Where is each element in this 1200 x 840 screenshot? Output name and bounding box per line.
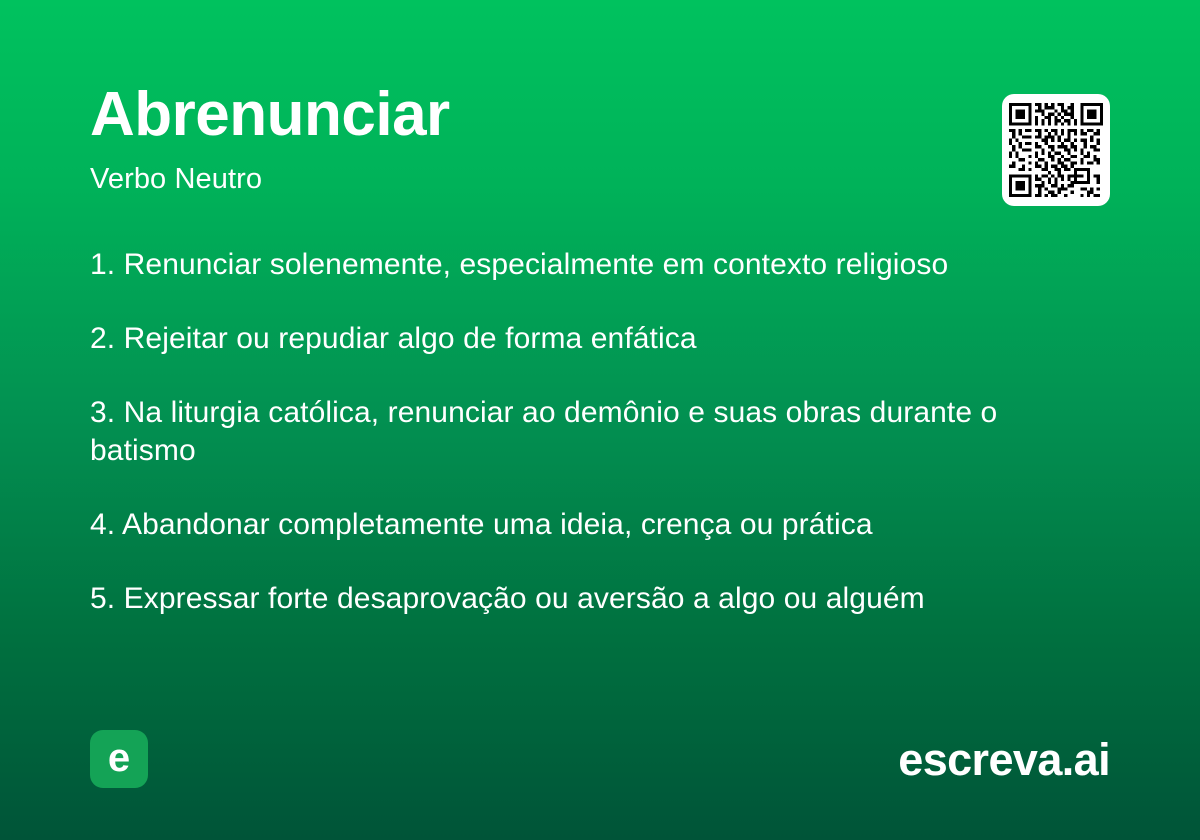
definition-item: 3. Na liturgia católica, renunciar ao de… [90, 394, 1100, 470]
card-header: Abrenunciar Verbo Neutro [90, 84, 1110, 206]
card-footer: e escreva.ai [90, 730, 1110, 788]
logo-letter: e [108, 738, 130, 778]
definition-item: 4. Abandonar completamente uma ideia, cr… [90, 506, 1100, 544]
headings-group: Abrenunciar Verbo Neutro [90, 84, 450, 196]
brand-wordmark: escreva.ai [898, 737, 1110, 782]
page-title: Abrenunciar [90, 84, 450, 146]
qr-code-card[interactable] [1002, 94, 1110, 206]
qr-code-icon [1009, 103, 1103, 197]
word-class-label: Verbo Neutro [90, 164, 450, 196]
dictionary-card: Abrenunciar Verbo Neutro [0, 0, 1200, 840]
definition-item: 1. Renunciar solenemente, especialmente … [90, 246, 1100, 284]
definition-item: 2. Rejeitar ou repudiar algo de forma en… [90, 320, 1100, 358]
definition-item: 5. Expressar forte desaprovação ou avers… [90, 580, 1100, 618]
escreva-logo-icon: e [90, 730, 148, 788]
definition-list: 1. Renunciar solenemente, especialmente … [90, 246, 1100, 619]
